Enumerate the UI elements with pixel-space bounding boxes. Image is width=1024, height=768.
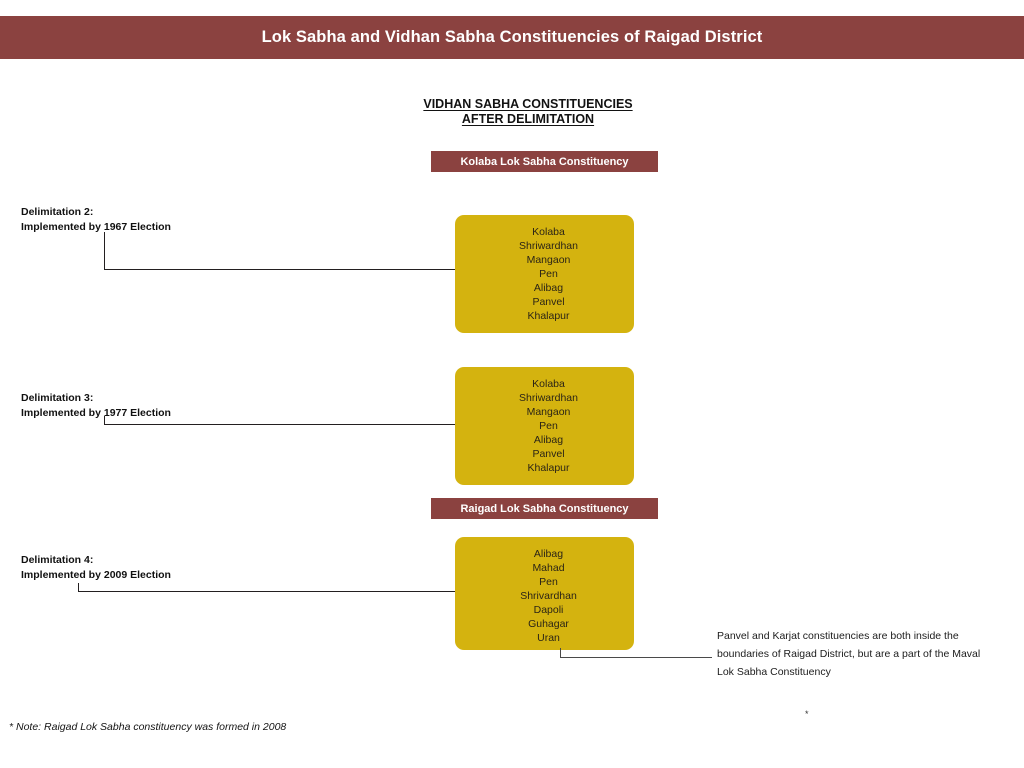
delimitation-2-label-line2: Implemented by 1967 Election [21,221,171,233]
constituency-item: Uran [463,631,634,645]
page-title: Lok Sabha and Vidhan Sabha Constituencie… [262,28,763,47]
constituency-item: Khalapur [463,309,634,323]
constituency-item: Shriwardhan [463,391,634,405]
constituency-item: Alibag [463,433,634,447]
lok-sabha-badge-raigad-label: Raigad Lok Sabha Constituency [460,503,628,515]
page-header: Lok Sabha and Vidhan Sabha Constituencie… [0,16,1024,59]
lok-sabha-badge-raigad: Raigad Lok Sabha Constituency [431,498,658,519]
constituency-item: Mangaon [463,253,634,267]
connector-delimitation-3-horizontal [104,424,456,425]
constituency-item: Kolaba [463,377,634,391]
connector-delimitation-2-horizontal [104,269,456,270]
section-heading-line2: AFTER DELIMITATION [462,112,594,127]
constituency-item: Pen [463,575,634,589]
constituency-item: Dapoli [463,603,634,617]
delimitation-4-label: Delimitation 4: Implemented by 2009 Elec… [21,553,171,582]
delimitation-2-label: Delimitation 2: Implemented by 1967 Elec… [21,205,171,234]
annotation-note: Panvel and Karjat constituencies are bot… [717,627,985,681]
delimitation-3-label: Delimitation 3: Implemented by 1977 Elec… [21,391,171,420]
delimitation-3-label-line1: Delimitation 3: [21,392,93,404]
delimitation-4-label-line1: Delimitation 4: [21,554,93,566]
section-heading: VIDHAN SABHA CONSTITUENCIES AFTER DELIMI… [378,97,678,127]
constituency-item: Shrivardhan [463,589,634,603]
delimitation-4-label-line2: Implemented by 2009 Election [21,569,171,581]
diagram-canvas: Lok Sabha and Vidhan Sabha Constituencie… [0,0,1024,768]
constituency-item: Alibag [463,281,634,295]
footnote-note: * Note: Raigad Lok Sabha constituency wa… [9,719,309,735]
connector-delimitation-4-horizontal [78,591,456,592]
constituency-item: Mangaon [463,405,634,419]
section-heading-line1: VIDHAN SABHA CONSTITUENCIES [423,97,632,112]
constituency-item: Khalapur [463,461,634,475]
vidhan-sabha-box-delimitation-2: KolabaShriwardhanMangaonPenAlibagPanvelK… [455,215,634,333]
vidhan-sabha-box-delimitation-3: KolabaShriwardhanMangaonPenAlibagPanvelK… [455,367,634,485]
constituency-item: Panvel [463,447,634,461]
constituency-list-delimitation-3: KolabaShriwardhanMangaonPenAlibagPanvelK… [455,377,634,475]
constituency-item: Pen [463,419,634,433]
lok-sabha-badge-kolaba-label: Kolaba Lok Sabha Constituency [460,156,628,168]
constituency-item: Mahad [463,561,634,575]
constituency-item: Pen [463,267,634,281]
constituency-item: Alibag [463,547,634,561]
footnote-marker-asterisk: * [805,709,809,719]
delimitation-3-label-line2: Implemented by 1977 Election [21,407,171,419]
connector-annotation-horizontal [560,657,712,658]
vidhan-sabha-box-delimitation-4: AlibagMahadPenShrivardhanDapoliGuhagarUr… [455,537,634,650]
constituency-list-delimitation-4: AlibagMahadPenShrivardhanDapoliGuhagarUr… [455,547,634,645]
delimitation-2-label-line1: Delimitation 2: [21,206,93,218]
lok-sabha-badge-kolaba: Kolaba Lok Sabha Constituency [431,151,658,172]
constituency-item: Guhagar [463,617,634,631]
constituency-list-delimitation-2: KolabaShriwardhanMangaonPenAlibagPanvelK… [455,225,634,323]
constituency-item: Kolaba [463,225,634,239]
connector-delimitation-2-vertical [104,232,105,270]
constituency-item: Shriwardhan [463,239,634,253]
constituency-item: Panvel [463,295,634,309]
